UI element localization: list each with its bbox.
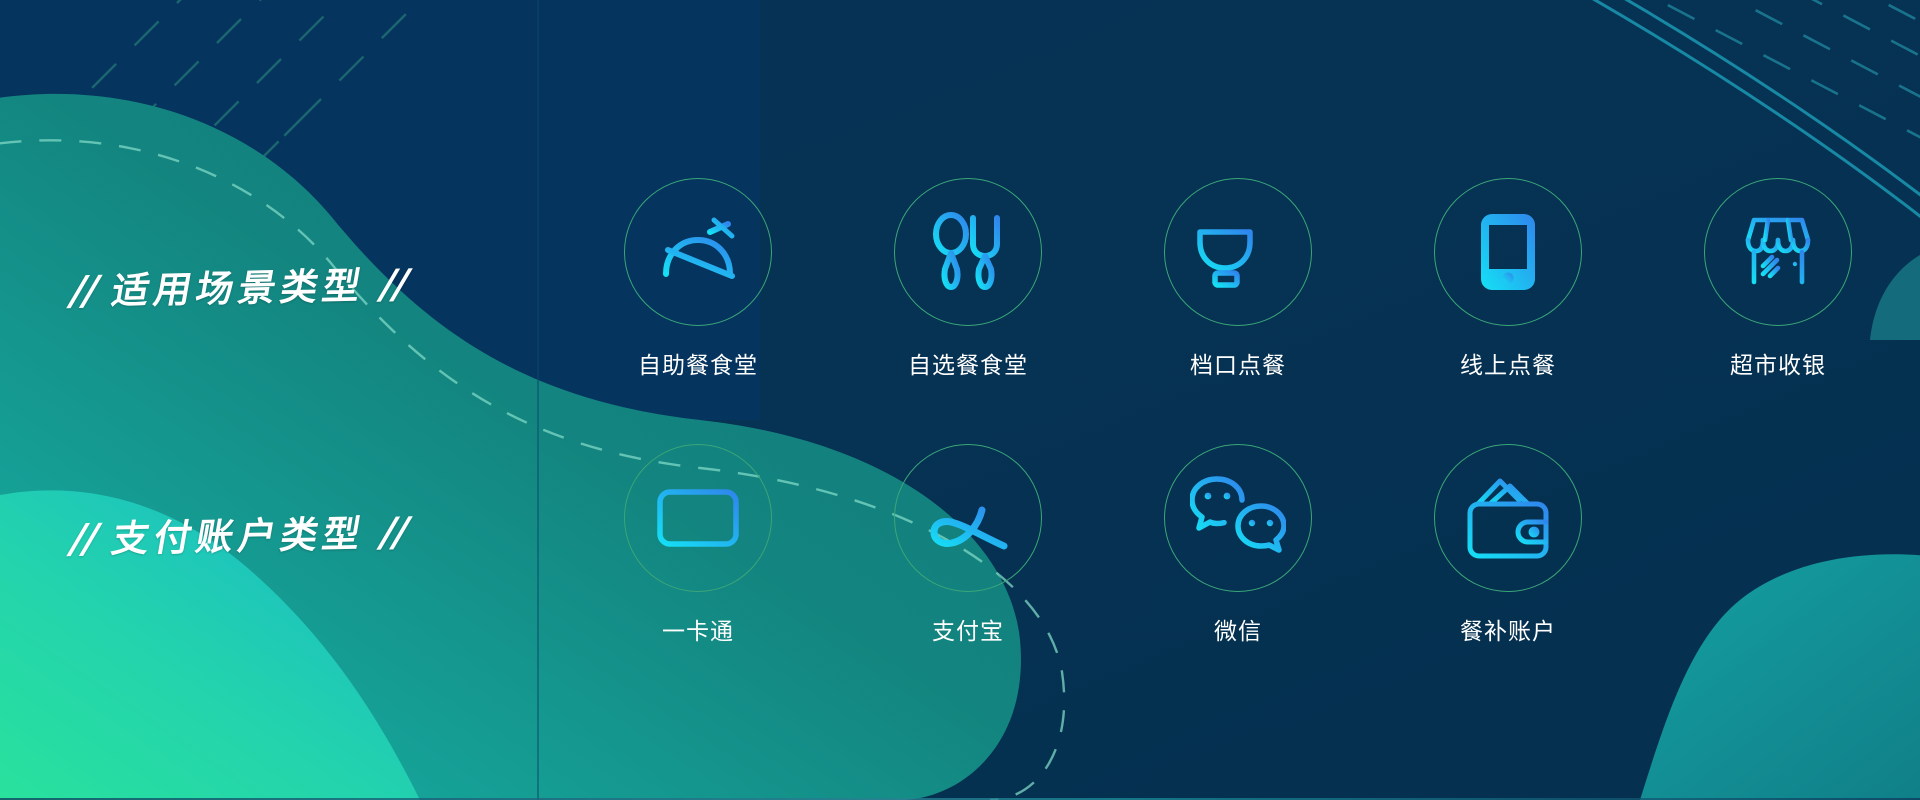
bowl-chopsticks-icon (1192, 206, 1284, 298)
scenario-item-online-order[interactable]: 线上点餐 (1373, 178, 1643, 380)
payment-item-allinone-card[interactable]: 一卡通 (563, 444, 833, 646)
payment-item-meal-subsidy[interactable]: 餐补账户 (1373, 444, 1643, 646)
icon-ring (1164, 178, 1312, 326)
mobile-phone-icon (1462, 206, 1554, 298)
icon-ring (894, 178, 1042, 326)
scenario-item-stall[interactable]: 档口点餐 (1103, 178, 1373, 380)
background-artwork (0, 0, 1920, 800)
scenario-item-label: 超市收银 (1730, 346, 1826, 380)
icon-ring (1704, 178, 1852, 326)
banner-stage: //适用场景类型// //支付账户类型// (0, 0, 1920, 800)
icon-ring (894, 444, 1042, 592)
cloche-icon (652, 206, 744, 298)
section-heading-scenario: //适用场景类型// (67, 255, 412, 316)
payment-card-icon (652, 472, 744, 564)
scenario-item-label: 线上点餐 (1460, 346, 1556, 380)
payment-item-label: 一卡通 (662, 612, 734, 646)
alipay-icon (920, 470, 1016, 566)
storefront-icon (1732, 206, 1824, 298)
spoon-fork-icon (922, 206, 1014, 298)
scenario-item-label: 自助餐食堂 (638, 346, 758, 380)
scenario-item-buffet[interactable]: 自助餐食堂 (563, 178, 833, 380)
payment-item-label: 餐补账户 (1460, 612, 1556, 646)
payment-item-wechat[interactable]: 微信 (1103, 444, 1373, 646)
scenario-item-label: 自选餐食堂 (908, 346, 1028, 380)
scenario-item-selfselect[interactable]: 自选餐食堂 (833, 178, 1103, 380)
wechat-icon (1190, 470, 1286, 566)
scenario-item-supermarket[interactable]: 超市收银 (1643, 178, 1913, 380)
section-heading-payment: //支付账户类型// (67, 503, 412, 564)
icon-ring (624, 444, 772, 592)
payment-item-alipay[interactable]: 支付宝 (833, 444, 1103, 646)
payment-icon-row: 一卡通 支付宝 (563, 444, 1643, 646)
heading-text: 支付账户类型 (92, 503, 386, 563)
icon-ring (1434, 178, 1582, 326)
payment-item-label: 支付宝 (932, 612, 1004, 646)
payment-item-label: 微信 (1214, 612, 1262, 646)
wallet-icon (1462, 472, 1554, 564)
scenario-item-label: 档口点餐 (1190, 346, 1286, 380)
scenario-icon-row: 自助餐食堂 自选餐食堂 (563, 178, 1913, 380)
icon-ring (1164, 444, 1312, 592)
heading-text: 适用场景类型 (92, 255, 386, 315)
icon-ring (1434, 444, 1582, 592)
icon-ring (624, 178, 772, 326)
